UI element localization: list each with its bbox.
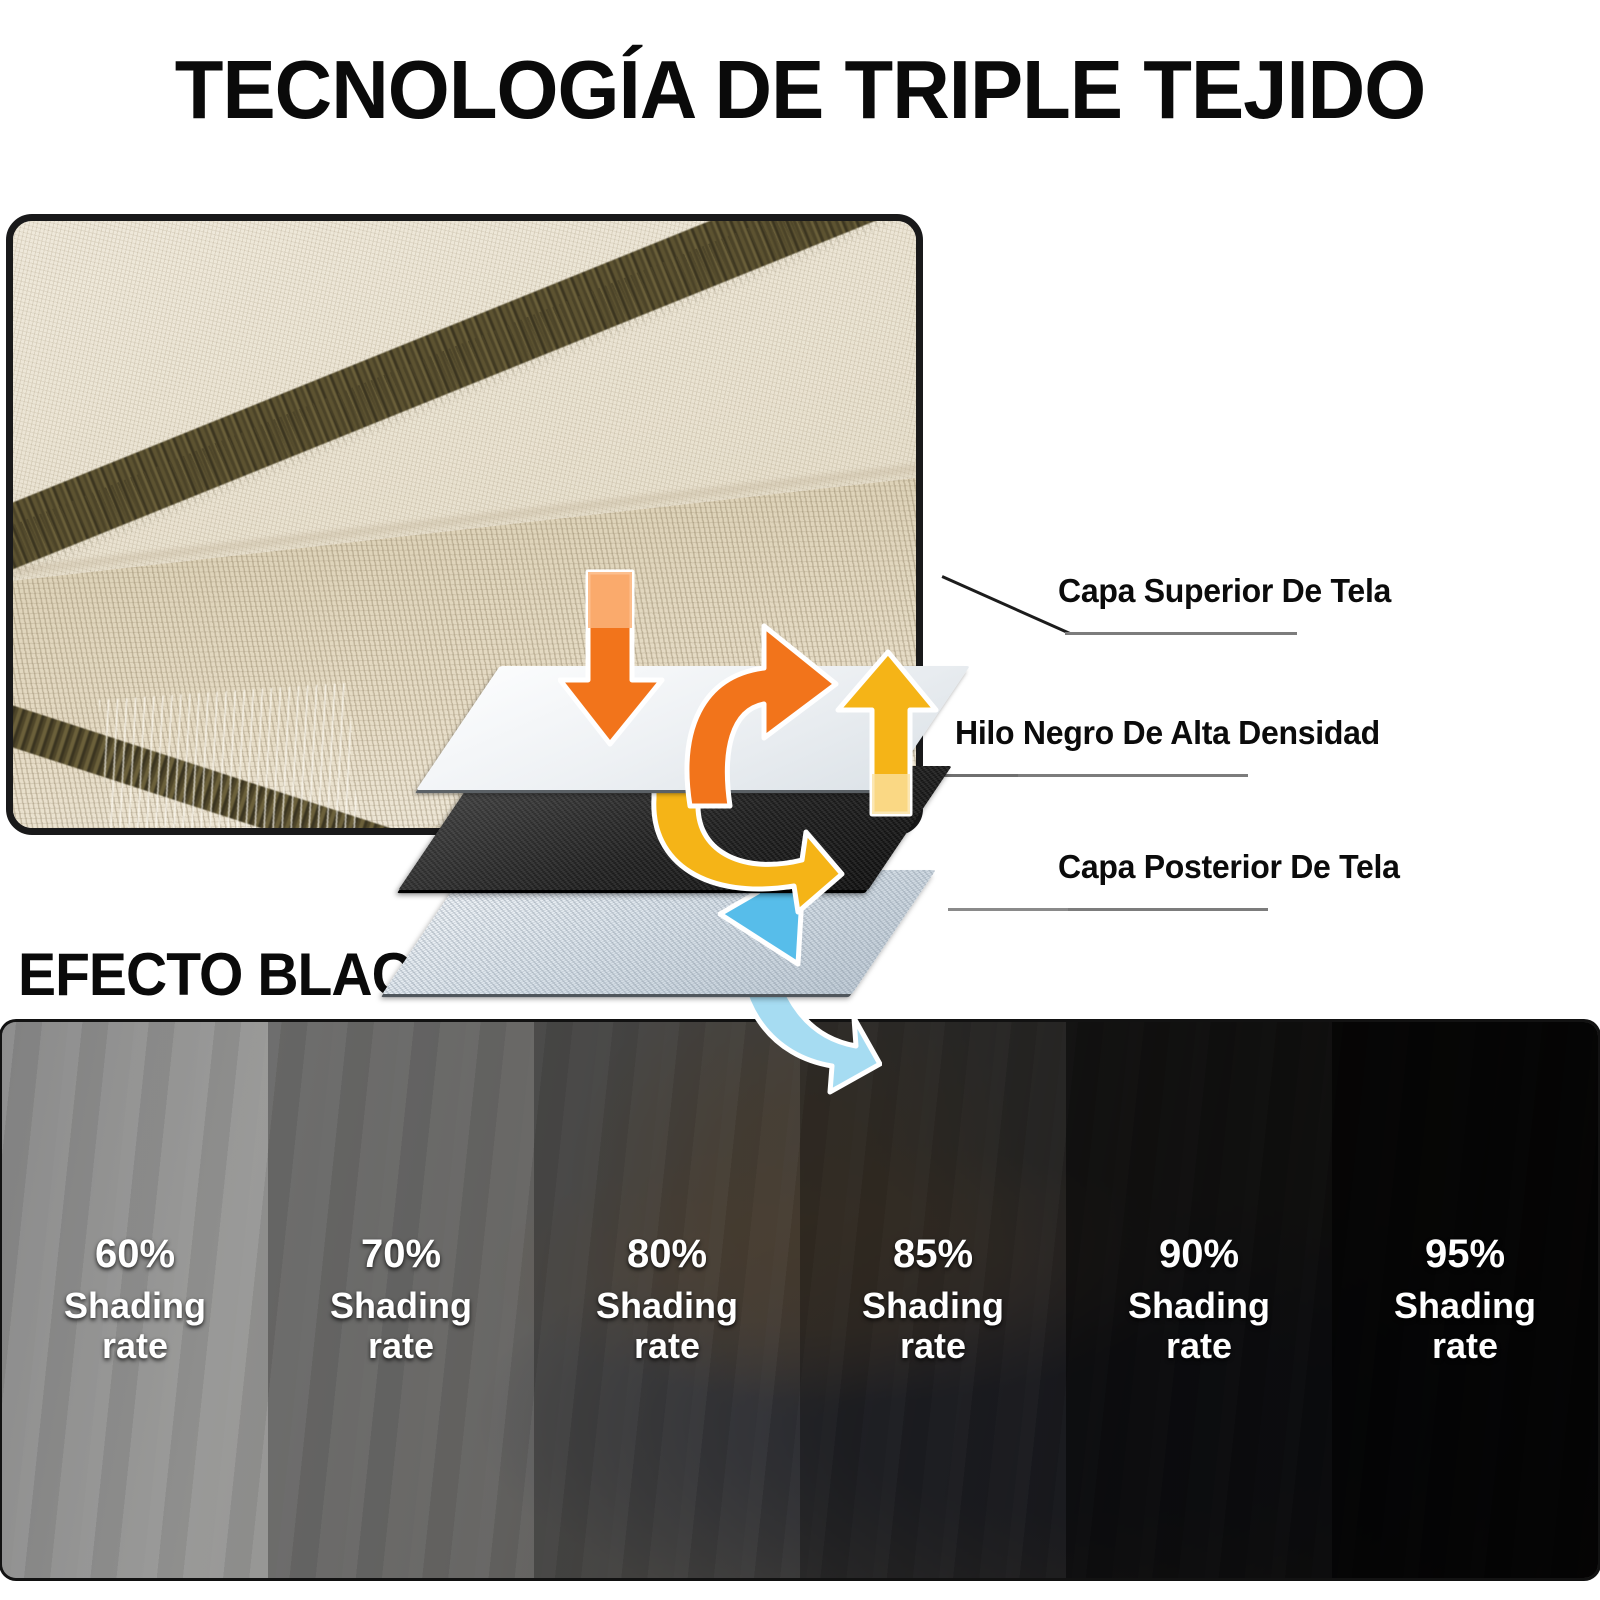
shading-rate-panel: 70%Shadingrate <box>268 1022 534 1578</box>
shading-rate-percent: 70% <box>361 1234 441 1274</box>
layer-label-middle: Hilo Negro De Alta Densidad <box>955 714 1380 752</box>
blackout-comparison-strip: 60%Shadingrate70%Shadingrate80%Shadingra… <box>2 1022 1598 1578</box>
layer-diagram <box>440 600 1140 1000</box>
shading-rate-label-line2: rate <box>64 1326 206 1366</box>
shading-rate-panel: 80%Shadingrate <box>534 1022 800 1578</box>
shading-rate-label: Shadingrate <box>596 1286 738 1367</box>
shading-rate-percent: 95% <box>1425 1234 1505 1274</box>
shading-rate-label-line1: Shading <box>64 1286 206 1326</box>
shading-rate-panel: 90%Shadingrate <box>1066 1022 1332 1578</box>
orange-down-arrow-icon <box>558 568 678 763</box>
leader-line-middle-horizontal <box>1018 774 1248 777</box>
shading-rate-percent: 90% <box>1159 1234 1239 1274</box>
shading-rate-label-line1: Shading <box>862 1286 1004 1326</box>
shading-rate-percent: 85% <box>893 1234 973 1274</box>
shading-rate-label-line1: Shading <box>330 1286 472 1326</box>
shading-rate-label: Shadingrate <box>862 1286 1004 1367</box>
shading-rate-label-line2: rate <box>596 1326 738 1366</box>
shading-rate-percent: 60% <box>95 1234 175 1274</box>
shading-rate-label: Shadingrate <box>1128 1286 1270 1367</box>
shading-rate-label-line2: rate <box>862 1326 1004 1366</box>
shading-rate-panel: 95%Shadingrate <box>1332 1022 1598 1578</box>
layer-label-top: Capa Superior De Tela <box>1058 572 1391 610</box>
shading-rate-label-line1: Shading <box>1128 1286 1270 1326</box>
layer-label-bottom: Capa Posterior De Tela <box>1058 848 1400 886</box>
shading-rate-panel: 60%Shadingrate <box>2 1022 268 1578</box>
page-title: TECNOLOGÍA DE TRIPLE TEJIDO <box>32 48 1568 131</box>
shading-rate-label-line2: rate <box>1394 1326 1536 1366</box>
loose-threads <box>99 683 369 835</box>
shading-rate-panel: 85%Shadingrate <box>800 1022 1066 1578</box>
leader-line-bottom-diagonal <box>948 908 1072 911</box>
shading-rate-label: Shadingrate <box>330 1286 472 1367</box>
shading-rate-label: Shadingrate <box>1394 1286 1536 1367</box>
shading-rate-label-line2: rate <box>330 1326 472 1366</box>
leader-line-bottom-horizontal <box>1068 908 1268 911</box>
shading-rate-label: Shadingrate <box>64 1286 206 1367</box>
shading-rate-label-line2: rate <box>1128 1326 1270 1366</box>
leader-line-top-horizontal <box>1065 632 1297 635</box>
shading-rate-percent: 80% <box>627 1234 707 1274</box>
yellow-up-arrow-icon <box>832 648 942 823</box>
shading-rate-label-line1: Shading <box>1394 1286 1536 1326</box>
shading-rate-label-line1: Shading <box>596 1286 738 1326</box>
